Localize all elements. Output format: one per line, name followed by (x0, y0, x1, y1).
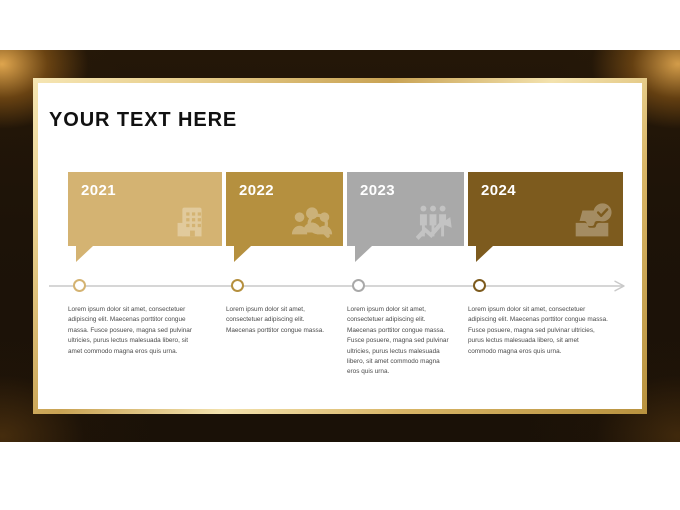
timeline-card-tail (476, 246, 493, 262)
office-building-icon (168, 198, 214, 244)
timeline-text-2023: Lorem ipsum dolor sit amet, consectetuer… (347, 305, 450, 378)
timeline-card-tail (234, 246, 251, 262)
slide-stage: YOUR TEXT HERE 2021 (0, 0, 680, 510)
timeline-marker-2022[interactable] (231, 279, 244, 292)
timeline-card-year: 2024 (481, 182, 516, 199)
slide-canvas: YOUR TEXT HERE 2021 (38, 83, 642, 409)
people-search-icon (289, 198, 335, 244)
timeline-card-body: 2024 (468, 172, 623, 246)
timeline-axis-line (49, 279, 635, 295)
timeline-card-year: 2022 (239, 182, 274, 199)
timeline-marker-2021[interactable] (73, 279, 86, 292)
timeline-text-2021: Lorem ipsum dolor sit amet, consectetuer… (68, 305, 198, 357)
timeline-card-tail (355, 246, 372, 262)
timeline-card-2021[interactable]: 2021 (68, 172, 222, 246)
page-title: YOUR TEXT HERE (49, 109, 237, 132)
timeline-text-2022: Lorem ipsum dolor sit amet, consectetuer… (226, 305, 331, 336)
timeline-text-2024: Lorem ipsum dolor sit amet, consectetuer… (468, 305, 608, 357)
timeline-card-body: 2022 (226, 172, 343, 246)
timeline-marker-2024[interactable] (473, 279, 486, 292)
timeline-card-2024[interactable]: 2024 (468, 172, 623, 246)
timeline-card-body: 2021 (68, 172, 222, 246)
timeline-card-2023[interactable]: 2023 (347, 172, 464, 246)
inbox-check-icon (569, 198, 615, 244)
timeline-card-2022[interactable]: 2022 (226, 172, 343, 246)
timeline-card-year: 2023 (360, 182, 395, 199)
slide-gold-frame: YOUR TEXT HERE 2021 (33, 78, 647, 414)
timeline-cards-row: 2021 (38, 172, 642, 264)
timeline-card-tail (76, 246, 93, 262)
timeline-card-body: 2023 (347, 172, 464, 246)
timeline-marker-2023[interactable] (352, 279, 365, 292)
timeline-card-year: 2021 (81, 182, 116, 199)
team-growth-chart-icon (410, 198, 456, 244)
